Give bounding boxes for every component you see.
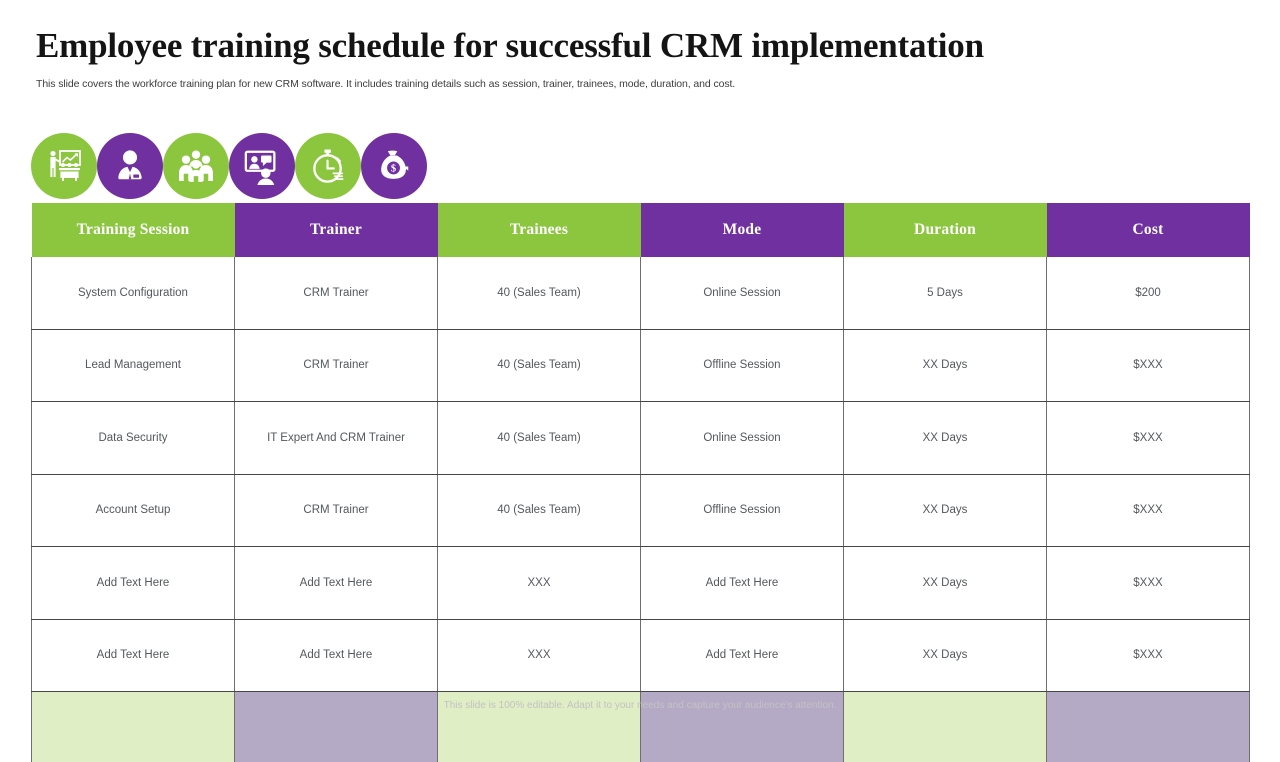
column-header-cost[interactable]: Cost <box>1047 203 1250 257</box>
page-title: Employee training schedule for successfu… <box>36 24 1246 68</box>
cell-trainees[interactable]: 40 (Sales Team) <box>438 402 641 475</box>
cell-training-session[interactable]: Add Text Here <box>32 619 235 692</box>
slide-footer-note: This slide is 100% editable. Adapt it to… <box>0 700 1280 711</box>
cell-trainer[interactable]: IT Expert And CRM Trainer <box>235 402 438 475</box>
cell-training-session[interactable]: Data Security <box>32 402 235 475</box>
icon-cell-mode <box>229 131 295 201</box>
column-header-mode[interactable]: Mode <box>641 203 844 257</box>
training-presentation-icon <box>31 133 97 199</box>
cell-duration[interactable]: XX Days <box>844 402 1047 475</box>
table-row: Add Text Here Add Text Here XXX Add Text… <box>32 619 1250 692</box>
training-schedule-table: Training Session Trainer Trainees Mode D… <box>31 203 1250 762</box>
cell-cost[interactable]: $XXX <box>1047 329 1250 402</box>
icon-cell-training-session <box>31 131 97 201</box>
svg-text:$: $ <box>391 164 396 175</box>
cell-trainer[interactable]: CRM Trainer <box>235 329 438 402</box>
icon-row: $ <box>31 131 1249 201</box>
column-header-training-session[interactable]: Training Session <box>32 203 235 257</box>
cell-cost[interactable]: $XXX <box>1047 619 1250 692</box>
cell-duration[interactable]: XX Days <box>844 547 1047 620</box>
table-row: Add Text Here Add Text Here XXX Add Text… <box>32 547 1250 620</box>
column-header-trainees[interactable]: Trainees <box>438 203 641 257</box>
cell-trainer[interactable]: CRM Trainer <box>235 257 438 329</box>
cell-training-session[interactable]: Add Text Here <box>32 547 235 620</box>
cell-trainees[interactable]: 40 (Sales Team) <box>438 257 641 329</box>
cell-mode[interactable]: Online Session <box>641 257 844 329</box>
table-header-row: Training Session Trainer Trainees Mode D… <box>32 203 1250 257</box>
cell-cost[interactable]: $XXX <box>1047 474 1250 547</box>
cell-training-session[interactable]: Lead Management <box>32 329 235 402</box>
cell-trainer[interactable]: CRM Trainer <box>235 474 438 547</box>
cell-cost[interactable]: $XXX <box>1047 402 1250 475</box>
trainer-person-icon <box>97 133 163 199</box>
cell-mode[interactable]: Offline Session <box>641 474 844 547</box>
cell-mode[interactable]: Offline Session <box>641 329 844 402</box>
cell-cost[interactable]: $200 <box>1047 257 1250 329</box>
cell-trainees[interactable]: XXX <box>438 619 641 692</box>
table-row: Data Security IT Expert And CRM Trainer … <box>32 402 1250 475</box>
icon-cell-cost: $ <box>361 131 427 201</box>
training-schedule-table-wrap: Training Session Trainer Trainees Mode D… <box>31 203 1249 762</box>
icon-cell-trainer <box>97 131 163 201</box>
stopwatch-duration-icon <box>295 133 361 199</box>
online-session-monitor-icon <box>229 133 295 199</box>
cell-mode[interactable]: Add Text Here <box>641 547 844 620</box>
table-row: Account Setup CRM Trainer 40 (Sales Team… <box>32 474 1250 547</box>
cell-trainees[interactable]: XXX <box>438 547 641 620</box>
cell-training-session[interactable]: System Configuration <box>32 257 235 329</box>
column-header-duration[interactable]: Duration <box>844 203 1047 257</box>
cell-duration[interactable]: XX Days <box>844 619 1047 692</box>
cell-cost[interactable]: $XXX <box>1047 547 1250 620</box>
table-row: Lead Management CRM Trainer 40 (Sales Te… <box>32 329 1250 402</box>
cell-duration[interactable]: XX Days <box>844 329 1047 402</box>
icon-cell-duration <box>295 131 361 201</box>
table-row: System Configuration CRM Trainer 40 (Sal… <box>32 257 1250 329</box>
column-header-trainer[interactable]: Trainer <box>235 203 438 257</box>
cell-trainees[interactable]: 40 (Sales Team) <box>438 474 641 547</box>
icon-cell-trainees <box>163 131 229 201</box>
trainees-group-icon <box>163 133 229 199</box>
money-bag-cost-icon: $ <box>361 133 427 199</box>
cell-mode[interactable]: Online Session <box>641 402 844 475</box>
cell-trainer[interactable]: Add Text Here <box>235 619 438 692</box>
cell-trainer[interactable]: Add Text Here <box>235 547 438 620</box>
cell-training-session[interactable]: Account Setup <box>32 474 235 547</box>
cell-mode[interactable]: Add Text Here <box>641 619 844 692</box>
slide-header: Employee training schedule for successfu… <box>36 24 1246 90</box>
cell-duration[interactable]: XX Days <box>844 474 1047 547</box>
page-subtitle: This slide covers the workforce training… <box>36 78 1246 90</box>
cell-duration[interactable]: 5 Days <box>844 257 1047 329</box>
cell-trainees[interactable]: 40 (Sales Team) <box>438 329 641 402</box>
